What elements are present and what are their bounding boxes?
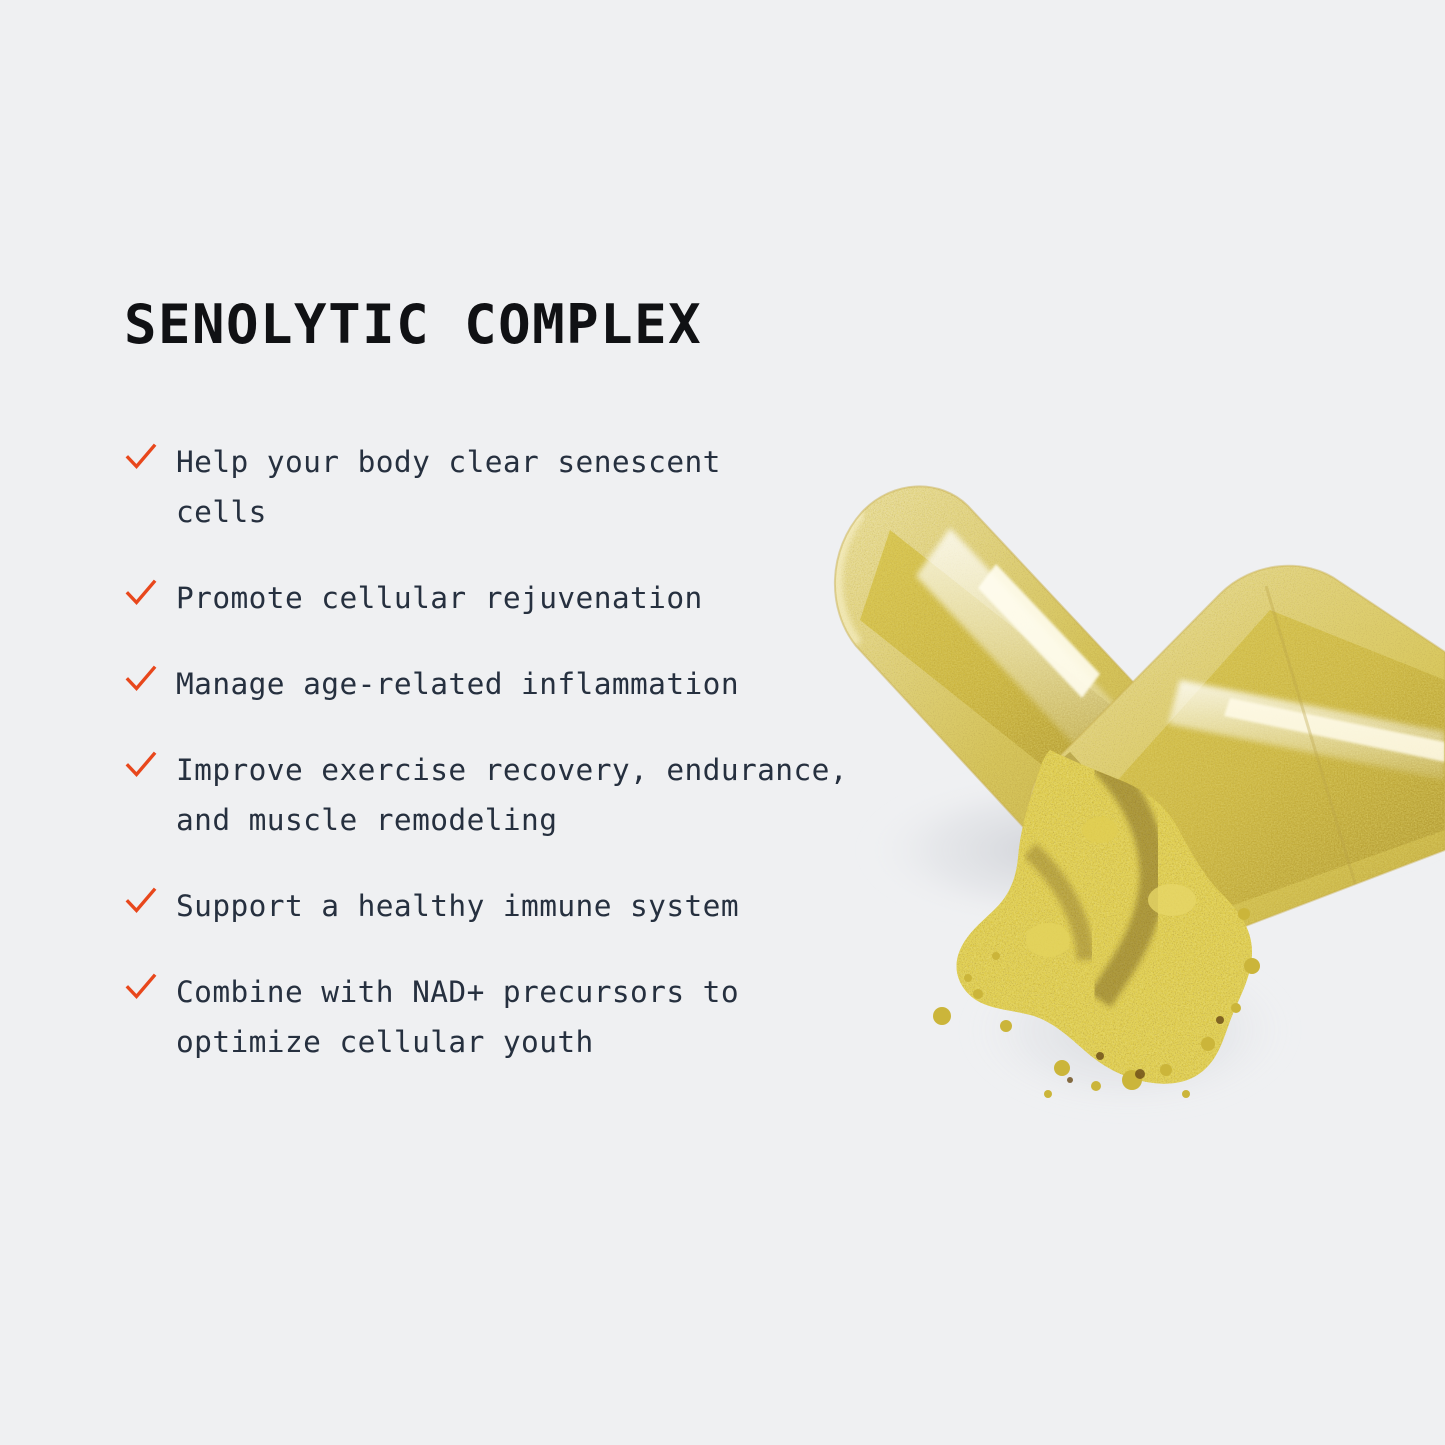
benefit-label: Help your body clear senescent cells [176,437,721,537]
benefit-list: Help your body clear senescent cells Pro… [124,437,954,1067]
benefit-item-3: Manage age-related inflammation [124,659,954,709]
benefit-item-1: Help your body clear senescent cells [124,437,954,537]
benefit-label: Improve exercise recovery, endurance, an… [176,745,848,845]
benefit-item-6: Combine with NAD+ precursors to optimize… [124,967,954,1067]
page-title: SENOLYTIC COMPLEX [124,295,954,355]
benefit-label: Manage age-related inflammation [176,659,739,709]
check-icon [124,884,158,918]
benefit-label: Combine with NAD+ precursors to optimize… [176,967,739,1067]
check-icon [124,662,158,696]
check-icon [124,748,158,782]
check-icon [124,970,158,1004]
product-benefits-card: SENOLYTIC COMPLEX Help your body clear s… [0,0,1445,1445]
benefit-item-4: Improve exercise recovery, endurance, an… [124,745,954,845]
check-icon [124,576,158,610]
benefit-item-5: Support a healthy immune system [124,881,954,931]
text-column: SENOLYTIC COMPLEX Help your body clear s… [124,295,954,1067]
benefit-label: Promote cellular rejuvenation [176,573,703,623]
benefit-item-2: Promote cellular rejuvenation [124,573,954,623]
check-icon [124,440,158,474]
benefit-label: Support a healthy immune system [176,881,739,931]
